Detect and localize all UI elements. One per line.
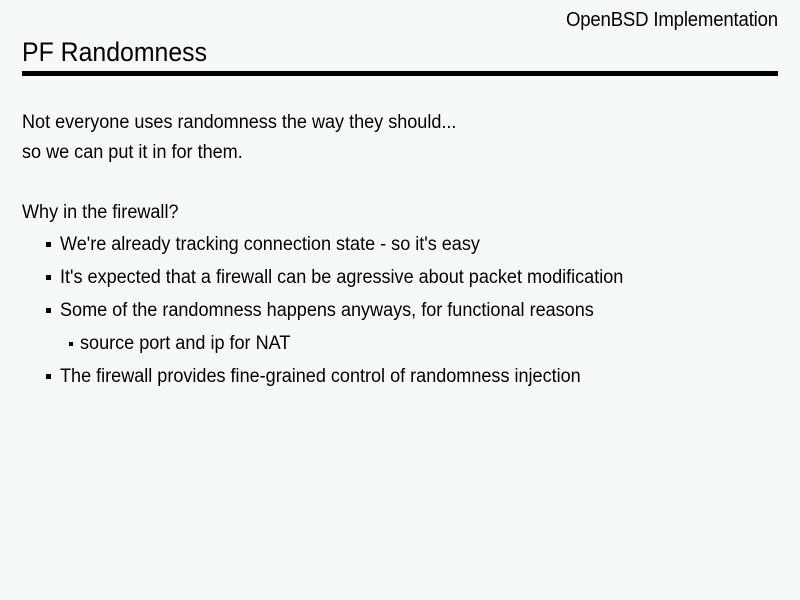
list-item: Some of the randomness happens anyways, … [22, 294, 782, 327]
square-bullet-icon [46, 275, 51, 280]
page-title: PF Randomness [22, 37, 207, 67]
list-item-label: We're already tracking connection state … [60, 228, 746, 261]
sub-list-item: source port and ip for NAT [22, 327, 782, 360]
square-bullet-icon [69, 342, 73, 346]
section-heading: Why in the firewall? [22, 198, 744, 228]
list-item-label: The firewall provides fine-grained contr… [60, 360, 746, 393]
paragraph-spacer [22, 168, 782, 198]
square-bullet-icon [46, 374, 51, 379]
square-bullet-icon [46, 308, 51, 313]
list-item: The firewall provides fine-grained contr… [22, 360, 782, 393]
slide-header: OpenBSD Implementation PF Randomness [0, 0, 800, 80]
square-bullet-icon [46, 242, 51, 247]
list-item: We're already tracking connection state … [22, 228, 782, 261]
slide-body: Not everyone uses randomness the way the… [22, 108, 782, 393]
bullet-list: We're already tracking connection state … [22, 228, 782, 393]
list-item: It's expected that a firewall can be agr… [22, 261, 782, 294]
intro-line-2: so we can put it in for them. [22, 138, 744, 168]
title-divider [22, 71, 778, 76]
list-item-label: Some of the randomness happens anyways, … [60, 294, 746, 327]
intro-line-1: Not everyone uses randomness the way the… [22, 108, 744, 138]
sub-list-item-label: source port and ip for NAT [80, 327, 747, 360]
slide: OpenBSD Implementation PF Randomness Not… [0, 0, 800, 600]
list-item-label: It's expected that a firewall can be agr… [60, 261, 746, 294]
presentation-subtitle: OpenBSD Implementation [566, 8, 778, 32]
